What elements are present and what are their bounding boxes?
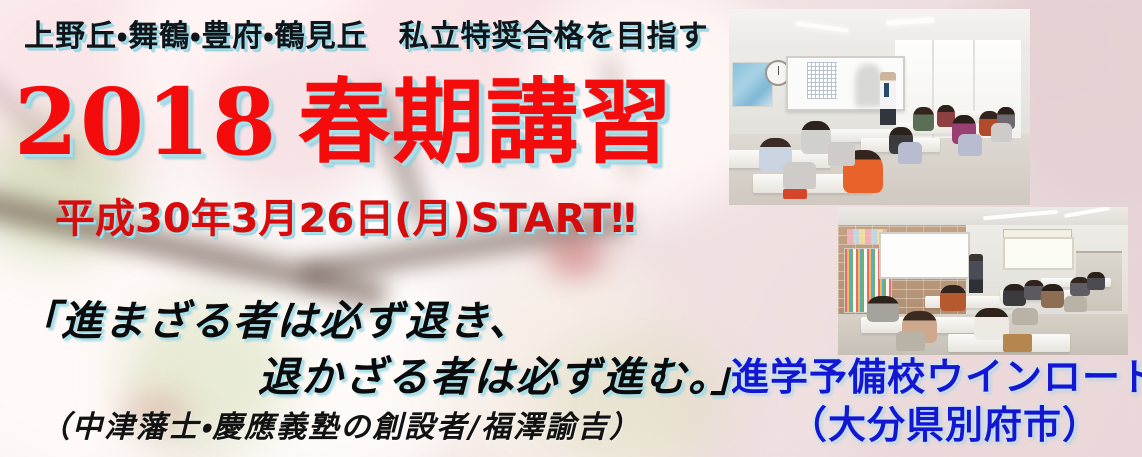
chair [991,123,1012,143]
title-year: 2018 [14,68,278,176]
teacher-figure [880,72,897,125]
student-figure [913,107,934,131]
main-title: 2018春期講習 [14,76,674,168]
chair [898,142,922,164]
schools-headline: 上野丘・舞鶴・豊府・鶴見丘 私立特奨合格を目指す [24,22,709,52]
student-figure [801,121,831,154]
chair [783,162,816,189]
chair [896,331,925,350]
photo-bottom-scene [838,207,1128,355]
whiteboard-secondary [1003,237,1074,271]
chair [1064,296,1087,312]
teacher-necktie [884,83,889,97]
pencil-case [783,189,807,199]
quote-line-2: 退かざる者は必ず進む。」 [258,357,754,398]
classroom-photo-top [729,9,1030,205]
school-name: 進学予備校ウインロード [731,358,1142,396]
quote-line-1: 「進まざる者は必ず退き、 [18,301,531,342]
student-figure [867,296,899,323]
chair [1012,308,1038,326]
start-date: 平成30年3月26日(月)START‼ [55,199,636,239]
desk [925,296,1012,308]
whiteboard-grid-chart [807,62,837,99]
photo-top-scene [729,9,1030,205]
student-figure [1087,272,1104,290]
classroom-photo-bottom [838,207,1128,355]
title-text: 春期講習 [298,68,674,176]
student-figure [1041,284,1064,308]
school-city: （大分県別府市） [789,406,1101,444]
chair [828,142,855,166]
quote-attribution: （中津藩士・慶應義塾の創設者/福澤諭吉） [40,413,641,443]
school-bag [1003,334,1032,352]
teacher-shadow [855,64,882,107]
teacher-figure [969,254,984,292]
student-figure [940,285,966,310]
whiteboard [879,232,970,279]
spring-course-banner: 上野丘・舞鶴・豊府・鶴見丘 私立特奨合格を目指す 2018春期講習 平成30年3… [0,0,1142,457]
chair [958,134,982,156]
